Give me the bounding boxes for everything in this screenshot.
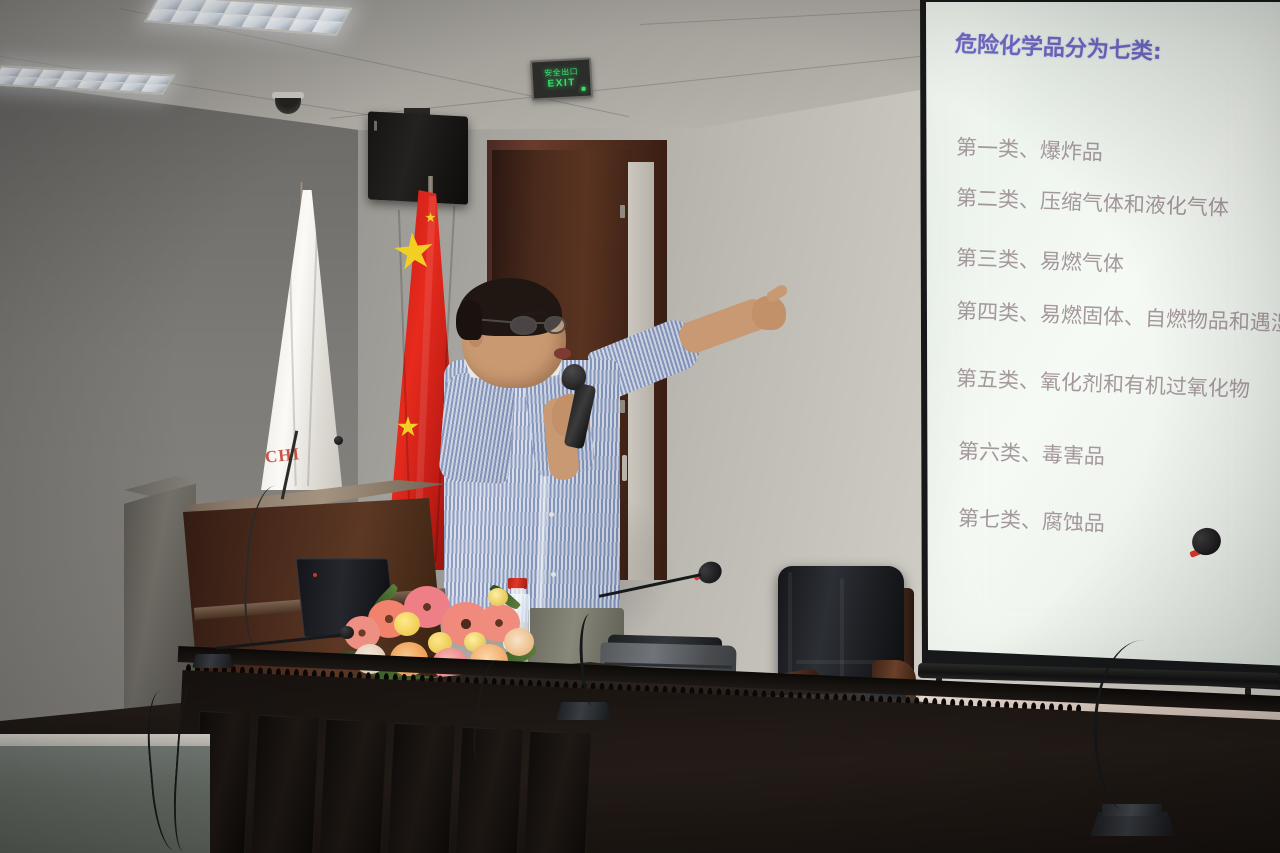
lecture-hall-photo: 安全出口 EXIT CHI 危险化学品分为七类: 第一类、爆炸品 第二类、压缩气… [0, 0, 1280, 853]
exit-sign: 安全出口 EXIT [530, 57, 593, 100]
door-hinge [620, 400, 625, 413]
exit-sign-indicator [581, 87, 585, 91]
screen-surface [926, 2, 1280, 674]
table-front-panel [319, 719, 388, 853]
presenter-shirt-button [551, 572, 556, 577]
slide-line: 第七类、腐蚀品 [957, 502, 1105, 538]
presenter-hair-side [456, 300, 482, 340]
banner-text: CHI [264, 444, 301, 468]
door-hinge [620, 205, 625, 218]
presenter-right-sleeve [438, 372, 515, 485]
presenter-glasses-bridge [536, 322, 545, 324]
chair-backrest-seam [788, 572, 792, 682]
presenter-mouth [554, 348, 571, 359]
projection-screen [906, 0, 1280, 696]
filler-bloom [488, 588, 508, 606]
chair-backrest-seam [796, 660, 880, 664]
table-front-panel [523, 731, 592, 853]
chair-backrest-seam [840, 578, 844, 686]
slide-line: 第六类、毒害品 [957, 435, 1105, 471]
laptop-power-indicator [313, 573, 317, 577]
slide-line: 第三类、易燃气体 [955, 242, 1124, 278]
presenter-glasses-lens [544, 316, 566, 334]
rose-bloom [504, 628, 534, 656]
table-front-panel [387, 723, 456, 853]
presenter-shirt-button [549, 512, 554, 517]
desk-mic-head [340, 626, 354, 639]
slide-line: 第一类、爆炸品 [955, 131, 1103, 167]
wall-speaker [368, 111, 468, 204]
desk-mic-base [192, 654, 234, 668]
filler-bloom [394, 612, 420, 636]
podium-mic-head [334, 436, 343, 445]
exit-sign-english-label: EXIT [547, 76, 576, 90]
presenter-glasses-lens [510, 316, 537, 335]
table-front-panel [251, 715, 320, 853]
